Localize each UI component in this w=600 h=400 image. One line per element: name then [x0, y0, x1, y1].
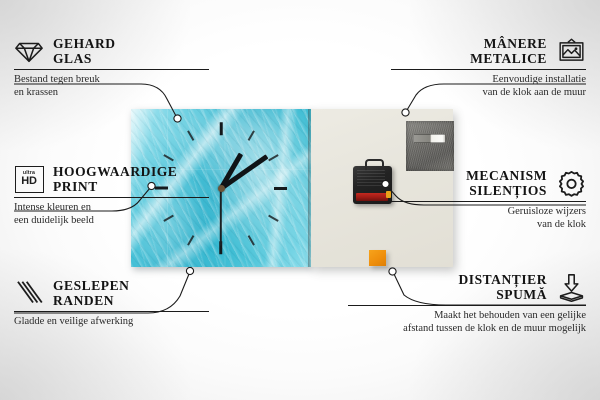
back-panel-edge-shadow [308, 109, 311, 267]
callout-description: Eenvoudige installatie van de klok aan d… [391, 74, 586, 99]
aa-battery [356, 193, 388, 201]
clock-mechanism-box [353, 166, 392, 204]
callout-mecanism-silentios: MECANISM SILENȚIOS Geruisloze wijzers va… [391, 168, 586, 231]
callout-rule [14, 197, 209, 198]
ultra-hd-icon: ultra HD [14, 164, 44, 194]
callout-hoogwaardige-print: ultra HD HOOGWAARDIGE PRINT Intense kleu… [14, 164, 209, 227]
callout-description: Maakt het behouden van een gelijke afsta… [348, 310, 586, 335]
callout-description: Intense kleuren en een duidelijk beeld [14, 202, 209, 227]
callout-rule [391, 201, 586, 202]
clock-center-cap [218, 185, 225, 192]
callout-gehard-glas: GEHARD GLAS Bestand tegen breuk en krass… [14, 36, 209, 99]
callout-title: GEHARD GLAS [53, 36, 116, 66]
clock-tick [274, 187, 287, 190]
callout-title: DISTANȚIER SPUMĂ [458, 272, 547, 302]
infographic-canvas: GEHARD GLAS Bestand tegen breuk en krass… [0, 0, 600, 400]
spacer-arrow-icon [556, 272, 586, 302]
diamond-icon [14, 36, 44, 66]
beveled-edges-icon [14, 278, 44, 308]
orange-foam-spacer [369, 250, 386, 266]
mechanism-grille [357, 170, 385, 188]
mechanism-indicator [385, 184, 389, 187]
metal-hanger-plate [406, 121, 454, 171]
callout-rule [14, 69, 209, 70]
callout-geslepen-randen: GESLEPEN RANDEN Gladde en veilige afwerk… [14, 278, 209, 329]
ultra-hd-icon-main-text: HD [21, 176, 37, 187]
callout-rule [348, 305, 586, 306]
callout-description: Bestand tegen breuk en krassen [14, 74, 209, 99]
picture-frame-icon [556, 36, 586, 66]
clock-second-hand [220, 188, 222, 246]
callout-description: Geruisloze wijzers van de klok [391, 206, 586, 231]
callout-description: Gladde en veilige afwerking [14, 316, 209, 329]
callout-manere-metalice: MÂNERE METALICE Eenvoudige installatie v… [391, 36, 586, 99]
callout-title: GESLEPEN RANDEN [53, 278, 129, 308]
hanger-keyhole-slot [413, 134, 446, 143]
callout-title: MÂNERE METALICE [470, 36, 547, 66]
callout-title: HOOGWAARDIGE PRINT [53, 164, 177, 194]
callout-rule [391, 69, 586, 70]
leader-dot-geslepen-randen [186, 267, 193, 274]
clock-tick [220, 122, 223, 135]
callout-rule [14, 311, 209, 312]
callout-title: MECANISM SILENȚIOS [466, 168, 547, 198]
callout-distantier-spuma: DISTANȚIER SPUMĂ Maakt het behouden van … [348, 272, 586, 335]
gear-icon [556, 168, 586, 198]
